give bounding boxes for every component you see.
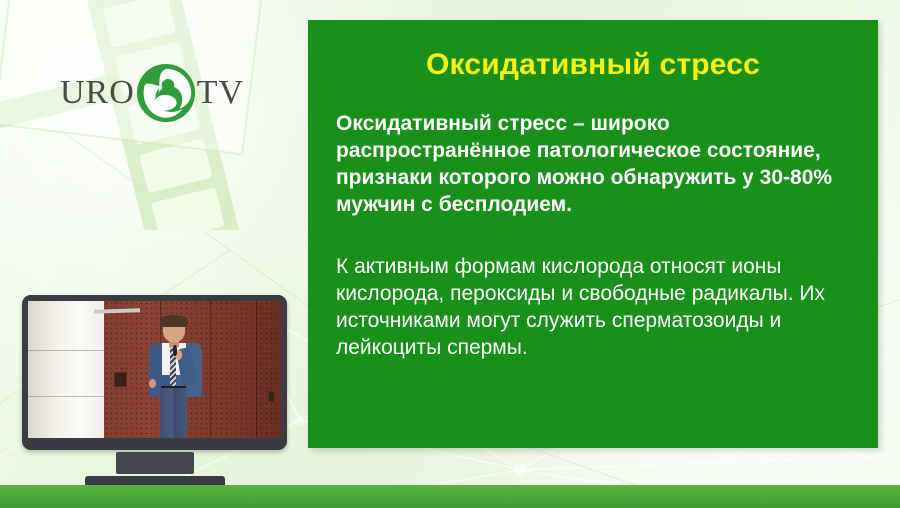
monitor-graphic	[22, 295, 287, 489]
screen-wall-switch	[268, 391, 275, 402]
panel-body: Оксидативный стресс – широко распростран…	[308, 111, 878, 362]
brand-logo: URO TV	[60, 62, 244, 124]
content-panel: Оксидативный стресс Оксидативный стресс …	[308, 20, 878, 448]
screen-speaker-figure	[137, 316, 213, 438]
slide-canvas: URO TV	[0, 0, 900, 508]
logo-text-tv: TV	[197, 76, 244, 110]
screen-wall-box	[114, 372, 127, 387]
screen-left-panel	[28, 301, 104, 438]
monitor-stand-neck	[116, 452, 194, 474]
paragraph-ros-sources: К активным формам кислорода относят ионы…	[336, 253, 854, 362]
urotv-emblem-icon	[135, 62, 197, 124]
paragraph-definition: Оксидативный стресс – широко распростран…	[336, 111, 854, 219]
monitor-screen	[28, 301, 281, 438]
monitor-bezel	[22, 295, 287, 450]
page-title: Оксидативный стресс	[308, 48, 878, 81]
logo-text-uro: URO	[60, 76, 135, 110]
bottom-green-band	[0, 485, 900, 508]
